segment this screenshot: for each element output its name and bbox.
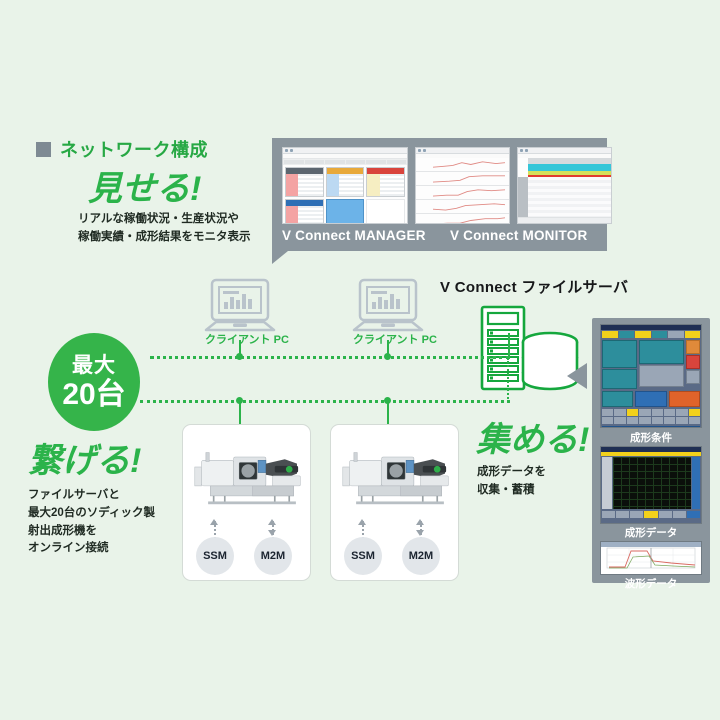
monitor-apps-panel: V Connect MANAGER V Connect MONITOR: [272, 138, 607, 251]
section-title: ネットワーク構成: [36, 136, 208, 162]
m2m-arrow-up-icon: [268, 519, 276, 525]
sparkline-icon: [433, 202, 505, 211]
status-card: [326, 199, 365, 224]
hmi-screen-3-caption: 波形データ: [592, 576, 710, 591]
waveform-mock: [601, 542, 701, 574]
tsunageru-body-line1: ファイルサーバと: [28, 487, 188, 505]
hmi-data-mock: [601, 447, 701, 523]
m2m-node-1-label: M2M: [261, 550, 285, 562]
hmi-screen-waveform[interactable]: [600, 541, 702, 575]
bus-node: [384, 353, 391, 360]
miseru-heading: 見せる!: [88, 172, 201, 206]
ssm-arrow-up-icon: [358, 519, 366, 525]
tsunageru-body-line4: オンライン接続: [28, 540, 188, 558]
hmi-condition-mock: [601, 325, 701, 427]
miseru-body: リアルな稼働状況・生産状況や 稼働実績・成形結果をモニタ表示: [78, 211, 278, 247]
v-connect-monitor-table-screenshot: [517, 147, 612, 224]
ssm-node-2-label: SSM: [351, 550, 375, 562]
sparkline-icon: [433, 160, 505, 169]
app-screenshot-row: [282, 147, 612, 224]
badge-line2: 20台: [62, 380, 125, 410]
table-rows: [518, 177, 611, 217]
section-title-label: ネットワーク構成: [60, 136, 208, 162]
tsunageru-body-line2: 最大20台のソディック製: [28, 505, 188, 523]
ssm-node-2[interactable]: SSM: [344, 537, 382, 575]
network-configuration-diagram: ネットワーク構成 見せる! リアルな稼働状況・生産状況や 稼働実績・成形結果をモ…: [0, 0, 720, 720]
app-caption-manager: V Connect MANAGER: [282, 228, 426, 243]
laptop-icon: [200, 278, 280, 336]
v-connect-monitor-chart-screenshot: [415, 147, 510, 224]
status-card: [366, 199, 405, 224]
m2m-node-2[interactable]: M2M: [402, 537, 440, 575]
hmi-screen-molding-condition[interactable]: [600, 324, 702, 428]
square-marker-icon: [36, 142, 51, 157]
atsumeru-body: 成形データを 収集・蓄積: [477, 464, 597, 500]
file-server[interactable]: [480, 305, 580, 400]
monitor-chart-list: [416, 158, 509, 224]
bus-node: [236, 353, 243, 360]
tsunageru-body: ファイルサーバと 最大20台のソディック製 射出成形機を オンライン接続: [28, 487, 188, 558]
network-bus-bottom: [140, 400, 510, 403]
client-pc-2-label: クライアント PC: [353, 331, 437, 347]
machine-card-2: SSM M2M: [330, 424, 459, 581]
machine-card-1: SSM M2M: [182, 424, 311, 581]
table-header-block: [518, 158, 611, 175]
tsunageru-heading: 繋げる!: [28, 444, 141, 478]
status-card: [326, 167, 365, 197]
atsumeru-body-line2: 収集・蓄積: [477, 482, 597, 500]
panel-pointer-tail: [272, 251, 288, 264]
atsumeru-heading: 集める!: [476, 423, 589, 457]
atsumeru-body-line1: 成形データを: [477, 464, 597, 482]
m2m-arrow-down-icon: [416, 530, 424, 536]
sparkline-icon: [433, 188, 505, 197]
ssm-node-1[interactable]: SSM: [196, 537, 234, 575]
client-pc-1-label: クライアント PC: [205, 331, 289, 347]
network-bus-top: [150, 356, 510, 359]
m2m-node-2-label: M2M: [409, 550, 433, 562]
hmi-screens-stack: 成形条件 成形データ: [592, 318, 710, 583]
miseru-body-line2: 稼働実績・成形結果をモニタ表示: [78, 229, 278, 247]
ssm-node-1-label: SSM: [203, 550, 227, 562]
app-caption-monitor: V Connect MONITOR: [450, 228, 587, 243]
miseru-body-line1: リアルな稼働状況・生産状況や: [78, 211, 278, 229]
hmi-screen-1-caption: 成形条件: [592, 430, 710, 445]
injection-molding-machine-icon: [191, 447, 303, 507]
hmi-screen-2-caption: 成形データ: [592, 525, 710, 540]
laptop-icon: [348, 278, 428, 336]
m2m-arrow-up-icon: [416, 519, 424, 525]
manager-card-grid: [283, 165, 407, 224]
status-card: [285, 167, 324, 197]
waveform-chart-icon: [601, 547, 701, 574]
server-rack-icon: [480, 305, 580, 395]
server-riser-bottom: [507, 358, 511, 402]
badge-line1: 最大: [72, 355, 116, 376]
max-units-badge: 最大 20台: [48, 333, 140, 431]
hmi-screen-molding-data[interactable]: [600, 446, 702, 524]
sparkline-icon: [433, 174, 505, 183]
m2m-node-1[interactable]: M2M: [254, 537, 292, 575]
table-statusbar: [518, 217, 611, 224]
ssm-arrow-up-icon: [210, 519, 218, 525]
status-card: [285, 199, 324, 224]
v-connect-manager-screenshot: [282, 147, 408, 224]
sparkline-icon: [433, 216, 505, 224]
status-card: [366, 167, 405, 197]
injection-molding-machine-icon: [339, 447, 451, 507]
server-riser-top: [508, 333, 510, 358]
m2m-arrow-down-icon: [268, 530, 276, 536]
tsunageru-body-line3: 射出成形機を: [28, 523, 188, 541]
collect-arrow-icon: [567, 363, 587, 389]
file-server-label: V Connect ファイルサーバ: [440, 276, 628, 297]
